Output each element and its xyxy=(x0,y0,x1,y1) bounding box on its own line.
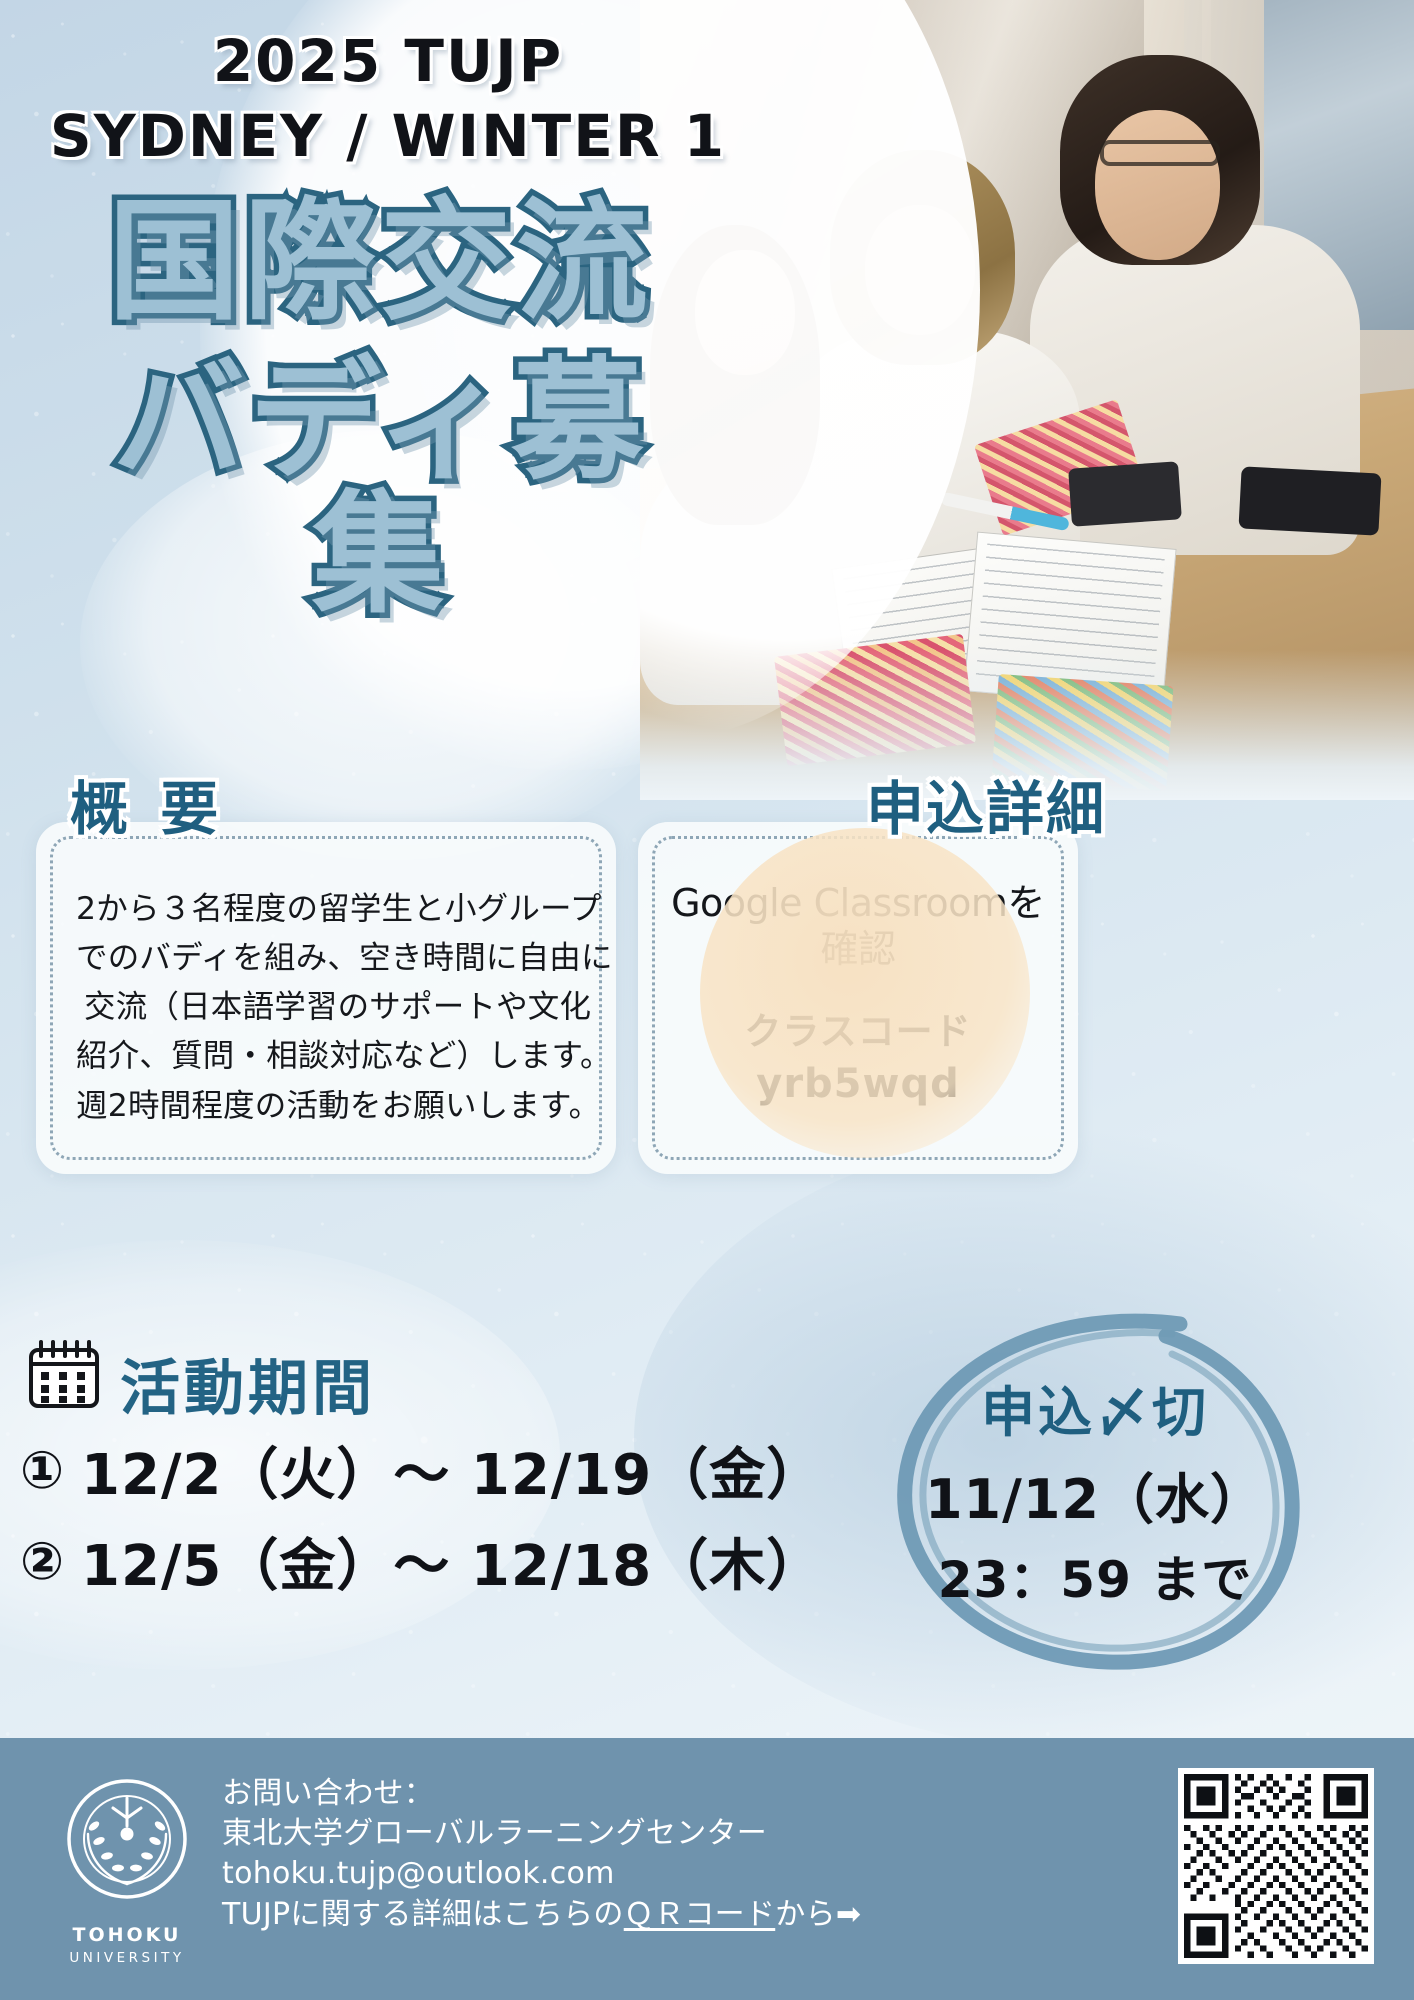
deadline-block: 申込〆切 11/12（水） 23：59 まで xyxy=(880,1300,1310,1680)
logo-text: TOHOKU UNIVERSITY xyxy=(42,1923,212,1967)
tohoku-crest-icon xyxy=(52,1764,202,1914)
photo-phone-left xyxy=(1068,461,1182,527)
qr-instruction-underline: ＱＲコード xyxy=(624,1897,776,1932)
deadline-heading: 申込〆切 xyxy=(981,1368,1209,1447)
qr-instruction-suffix: から➡ xyxy=(775,1897,861,1932)
overview-line-3: 交流（日本語学習のサポートや文化 xyxy=(76,983,584,1032)
decorative-beige-circle xyxy=(700,828,1030,1158)
period-heading: 活動期間 xyxy=(120,1340,376,1427)
application-heading: 申込詳細 xyxy=(866,762,1106,846)
overview-heading: 概 要 xyxy=(70,762,224,846)
overview-card: 2から３名程度の留学生と小グループ でのバディを組み、空き時間に自由に 交流（日… xyxy=(36,822,616,1174)
photo-person-right-face xyxy=(1095,110,1220,260)
period-row-1-number: ① xyxy=(20,1441,65,1501)
overview-text: 2から３名程度の留学生と小グループ でのバディを組み、空き時間に自由に 交流（日… xyxy=(76,885,584,1131)
period-row-1-text: 12/2（火）〜 12/19（金） xyxy=(81,1430,823,1511)
footer-bar: TOHOKU UNIVERSITY お問い合わせ： 東北大学グローバルラーニング… xyxy=(0,1738,1414,2000)
logo-text-sub: UNIVERSITY xyxy=(42,1949,212,1967)
title-en-line-1: 2025 TUJP xyxy=(28,24,748,99)
title-jp-line-1: 国際交流 xyxy=(50,195,710,330)
period-row-2-number: ② xyxy=(20,1532,65,1592)
overview-line-2: でのバディを組み、空き時間に自由に xyxy=(76,934,584,983)
period-row: ① 12/2（火）〜 12/19（金） xyxy=(20,1430,920,1511)
period-row-2-text: 12/5（金）〜 12/18（木） xyxy=(81,1521,823,1602)
photo-glasses xyxy=(1100,140,1220,166)
header-photo xyxy=(640,0,1414,800)
photo-phone-right xyxy=(1238,466,1381,535)
qr-code[interactable] xyxy=(1178,1768,1374,1964)
title-en-line-2: SYDNEY / WINTER 1 xyxy=(28,99,748,174)
contact-info: お問い合わせ： 東北大学グローバルラーニングセンター tohoku.tujp@o… xyxy=(222,1774,1182,1935)
overview-line-1: 2から３名程度の留学生と小グループ xyxy=(76,885,584,934)
period-rows: ① 12/2（火）〜 12/19（金） ② 12/5（金）〜 12/18（木） xyxy=(20,1430,920,1612)
title-jp-line-2: バディ募集 xyxy=(50,354,710,623)
deadline-content: 申込〆切 11/12（水） 23：59 まで xyxy=(880,1300,1310,1680)
deadline-date: 11/12（水） xyxy=(925,1455,1265,1534)
period-row: ② 12/5（金）〜 12/18（木） xyxy=(20,1521,920,1602)
university-logo: TOHOKU UNIVERSITY xyxy=(42,1764,212,1969)
qr-instruction: TUJPに関する詳細はこちらのＱＲコードから➡ xyxy=(222,1895,1182,1935)
photo-backdrop xyxy=(640,0,1414,800)
contact-line-1: お問い合わせ： xyxy=(222,1774,1182,1814)
deadline-time: 23：59 まで xyxy=(938,1540,1253,1612)
poster-title-japanese: 国際交流 バディ募集 xyxy=(50,195,710,623)
contact-line-2: 東北大学グローバルラーニングセンター xyxy=(222,1814,1182,1854)
poster-root: 2025 TUJP SYDNEY / WINTER 1 国際交流 バディ募集 概… xyxy=(0,0,1414,2000)
contact-email[interactable]: tohoku.tujp@outlook.com xyxy=(222,1854,1182,1894)
logo-text-main: TOHOKU xyxy=(73,1924,182,1946)
qr-instruction-prefix: TUJPに関する詳細はこちらの xyxy=(222,1897,624,1932)
calendar-icon xyxy=(26,1338,102,1412)
poster-title-english: 2025 TUJP SYDNEY / WINTER 1 xyxy=(28,24,748,175)
overview-line-5: 週2時間程度の活動をお願いします。 xyxy=(76,1082,584,1131)
overview-line-4: 紹介、質問・相談対応など）します。 xyxy=(76,1032,584,1081)
